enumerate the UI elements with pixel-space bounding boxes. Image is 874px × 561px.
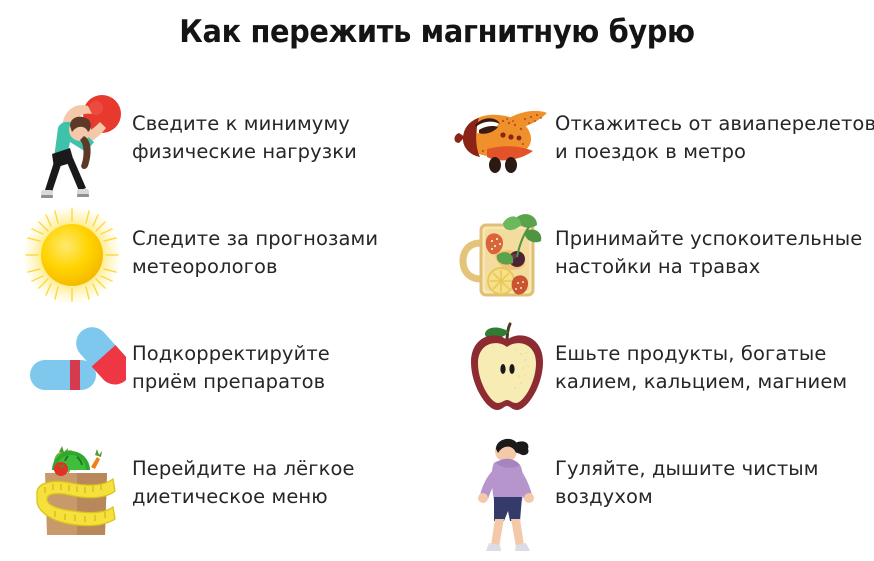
tip-text: Перейдите на лёгкое диетическое меню: [126, 455, 355, 510]
tip-line-1: Гуляйте, дышите чистым: [555, 455, 819, 483]
tip-item: Сведите к минимуму физические нагрузки: [0, 80, 437, 195]
pills-capsules-icon: [22, 313, 130, 423]
tip-text: Сведите к минимуму физические нагрузки: [126, 110, 357, 165]
tip-line-1: Принимайте успокоительные: [555, 225, 862, 253]
tip-line-1: Сведите к минимуму: [132, 110, 357, 138]
tip-line-2: диетическое меню: [132, 483, 355, 511]
tip-line-2: метеорологов: [132, 253, 378, 281]
tip-text: Принимайте успокоительные настойки на тр…: [549, 225, 862, 280]
tip-item: Гуляйте, дышите чистым воздухом: [437, 425, 874, 540]
tip-item: Откажитесь от авиаперелетов и поездок в …: [437, 80, 874, 195]
tip-line-1: Перейдите на лёгкое: [132, 455, 355, 483]
airplane-icon: [453, 83, 553, 193]
apple-half-icon: [457, 313, 557, 423]
tip-line-2: настойки на травах: [555, 253, 862, 281]
tip-line-1: Ешьте продукты, богатые: [555, 340, 847, 368]
tips-column-right: Откажитесь от авиаперелетов и поездок в …: [437, 80, 874, 561]
tip-item: Подкорректируйте приём препаратов: [0, 310, 437, 425]
tip-line-1: Подкорректируйте: [132, 340, 330, 368]
tips-column-left: Сведите к минимуму физические нагрузки: [0, 80, 437, 561]
tip-line-1: Откажитесь от авиаперелетов: [555, 110, 874, 138]
tip-line-2: калием, кальцием, магнием: [555, 368, 847, 396]
woman-exercising-with-ball-icon: [28, 91, 136, 201]
tip-text: Откажитесь от авиаперелетов и поездок в …: [549, 110, 874, 165]
tip-item: Ешьте продукты, богатые калием, кальцием…: [437, 310, 874, 425]
walking-woman-icon: [461, 440, 561, 550]
infographic-poster: Как пережить магнитную бурю: [0, 0, 874, 561]
tip-text: Подкорректируйте приём препаратов: [126, 340, 330, 395]
tips-columns: Сведите к минимуму физические нагрузки: [0, 80, 874, 561]
tip-item: Следите за прогнозами метеорологов: [0, 195, 437, 310]
tip-line-2: физические нагрузки: [132, 138, 357, 166]
sun-icon: [18, 200, 126, 310]
tip-text: Ешьте продукты, богатые калием, кальцием…: [549, 340, 847, 395]
tip-line-2: приём препаратов: [132, 368, 330, 396]
page-title: Как пережить магнитную бурю: [31, 14, 844, 50]
tip-text: Следите за прогнозами метеорологов: [126, 225, 378, 280]
tip-line-1: Следите за прогнозами: [132, 225, 378, 253]
grocery-bag-measuring-tape-icon: [22, 434, 130, 544]
herbal-infusion-mug-icon: [457, 198, 557, 308]
tip-line-2: и поездок в метро: [555, 138, 874, 166]
tip-item: Принимайте успокоительные настойки на тр…: [437, 195, 874, 310]
tip-text: Гуляйте, дышите чистым воздухом: [549, 455, 819, 510]
tip-line-2: воздухом: [555, 483, 819, 511]
tip-item: Перейдите на лёгкое диетическое меню: [0, 425, 437, 540]
